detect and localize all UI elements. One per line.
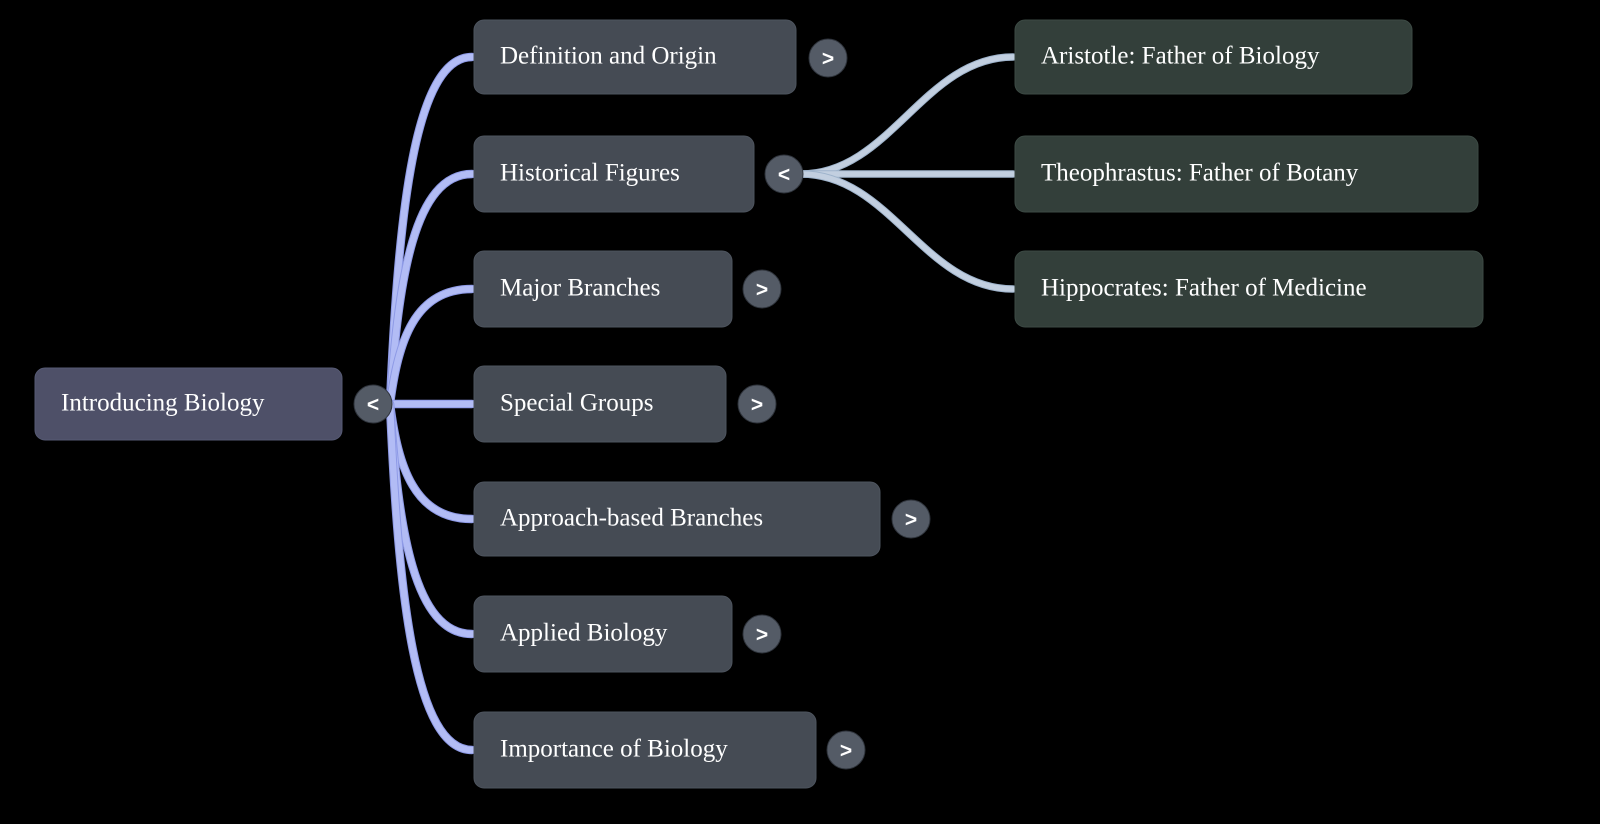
leaf-node-label: Aristotle: Father of Biology <box>1041 43 1320 70</box>
root-node-label: Introducing Biology <box>61 390 265 417</box>
branch-node-label: Approach-based Branches <box>500 505 763 532</box>
node-applied-biology[interactable]: Applied Biology <box>474 596 732 672</box>
node-special-groups[interactable]: Special Groups <box>474 366 726 442</box>
toggle-applied-biology[interactable]: > <box>743 615 781 653</box>
toggle-glyph: > <box>756 279 768 302</box>
node-hippocrates-father-of-medicine[interactable]: Hippocrates: Father of Medicine <box>1015 251 1483 327</box>
mindmap-canvas: Introducing Biology<Definition and Origi… <box>0 0 1600 824</box>
node-importance-of-biology[interactable]: Importance of Biology <box>474 712 816 788</box>
toggle-glyph: < <box>367 394 379 417</box>
toggle-glyph: > <box>751 394 763 417</box>
toggle-major-branches[interactable]: > <box>743 270 781 308</box>
node-theophrastus-father-of-botany[interactable]: Theophrastus: Father of Botany <box>1015 136 1478 212</box>
node-major-branches[interactable]: Major Branches <box>474 251 732 327</box>
leaf-node-label: Theophrastus: Father of Botany <box>1041 160 1359 187</box>
nodes-layer: Introducing Biology<Definition and Origi… <box>35 20 1483 788</box>
toggle-definition-and-origin[interactable]: > <box>809 39 847 77</box>
toggle-historical-figures[interactable]: < <box>765 155 803 193</box>
branch-node-label: Special Groups <box>500 390 653 417</box>
branch-node-label: Applied Biology <box>500 620 668 647</box>
toggle-glyph: > <box>905 509 917 532</box>
edge-historical-hippocrates <box>801 174 1013 289</box>
toggle-approach-based-branches[interactable]: > <box>892 500 930 538</box>
node-approach-based-branches[interactable]: Approach-based Branches <box>474 482 880 556</box>
node-definition-and-origin[interactable]: Definition and Origin <box>474 20 796 94</box>
node-root[interactable]: Introducing Biology <box>35 368 342 440</box>
branch-node-label: Definition and Origin <box>500 43 717 70</box>
branch-node-label: Historical Figures <box>500 160 680 187</box>
node-historical-figures[interactable]: Historical Figures <box>474 136 754 212</box>
toggle-root[interactable]: < <box>354 385 392 423</box>
toggle-glyph: < <box>778 164 790 187</box>
toggle-glyph: > <box>756 624 768 647</box>
branch-node-label: Importance of Biology <box>500 736 728 763</box>
toggle-glyph: > <box>840 740 852 763</box>
toggle-special-groups[interactable]: > <box>738 385 776 423</box>
branch-node-label: Major Branches <box>500 275 660 302</box>
mindmap-svg: Introducing Biology<Definition and Origi… <box>0 0 1600 824</box>
leaf-node-label: Hippocrates: Father of Medicine <box>1041 275 1367 302</box>
node-aristotle-father-of-biology[interactable]: Aristotle: Father of Biology <box>1015 20 1412 94</box>
toggle-importance-of-biology[interactable]: > <box>827 731 865 769</box>
toggle-glyph: > <box>822 48 834 71</box>
